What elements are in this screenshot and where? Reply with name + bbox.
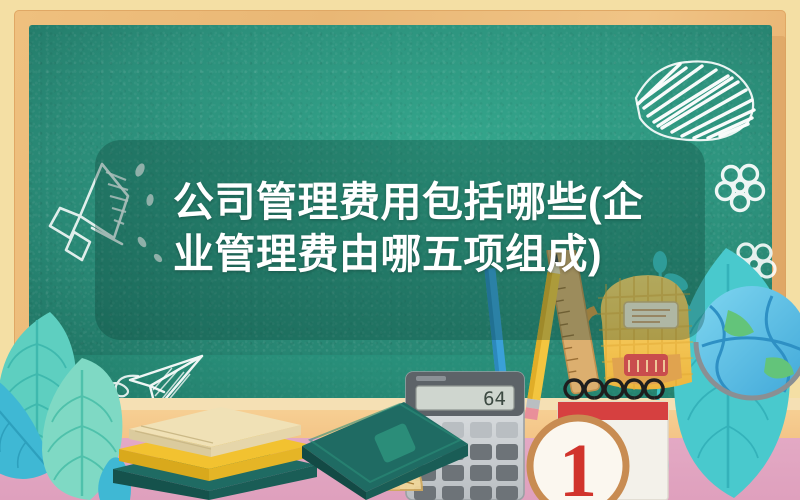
title-line-1: 公司管理费用包括哪些(企 [173,176,693,228]
magnifying-glass: 1 [514,418,626,500]
title-line-2: 业管理费由哪五项组成) [173,228,693,280]
book-stack-right [300,400,470,500]
cover-image: 64 1 [0,0,800,500]
globe [696,286,800,398]
magnifier-number: 1 [559,429,597,500]
book-stack-left [105,395,325,500]
page-title: 公司管理费用包括哪些(企 业管理费由哪五项组成) [173,176,693,280]
calculator-display-value: 64 [483,388,506,410]
